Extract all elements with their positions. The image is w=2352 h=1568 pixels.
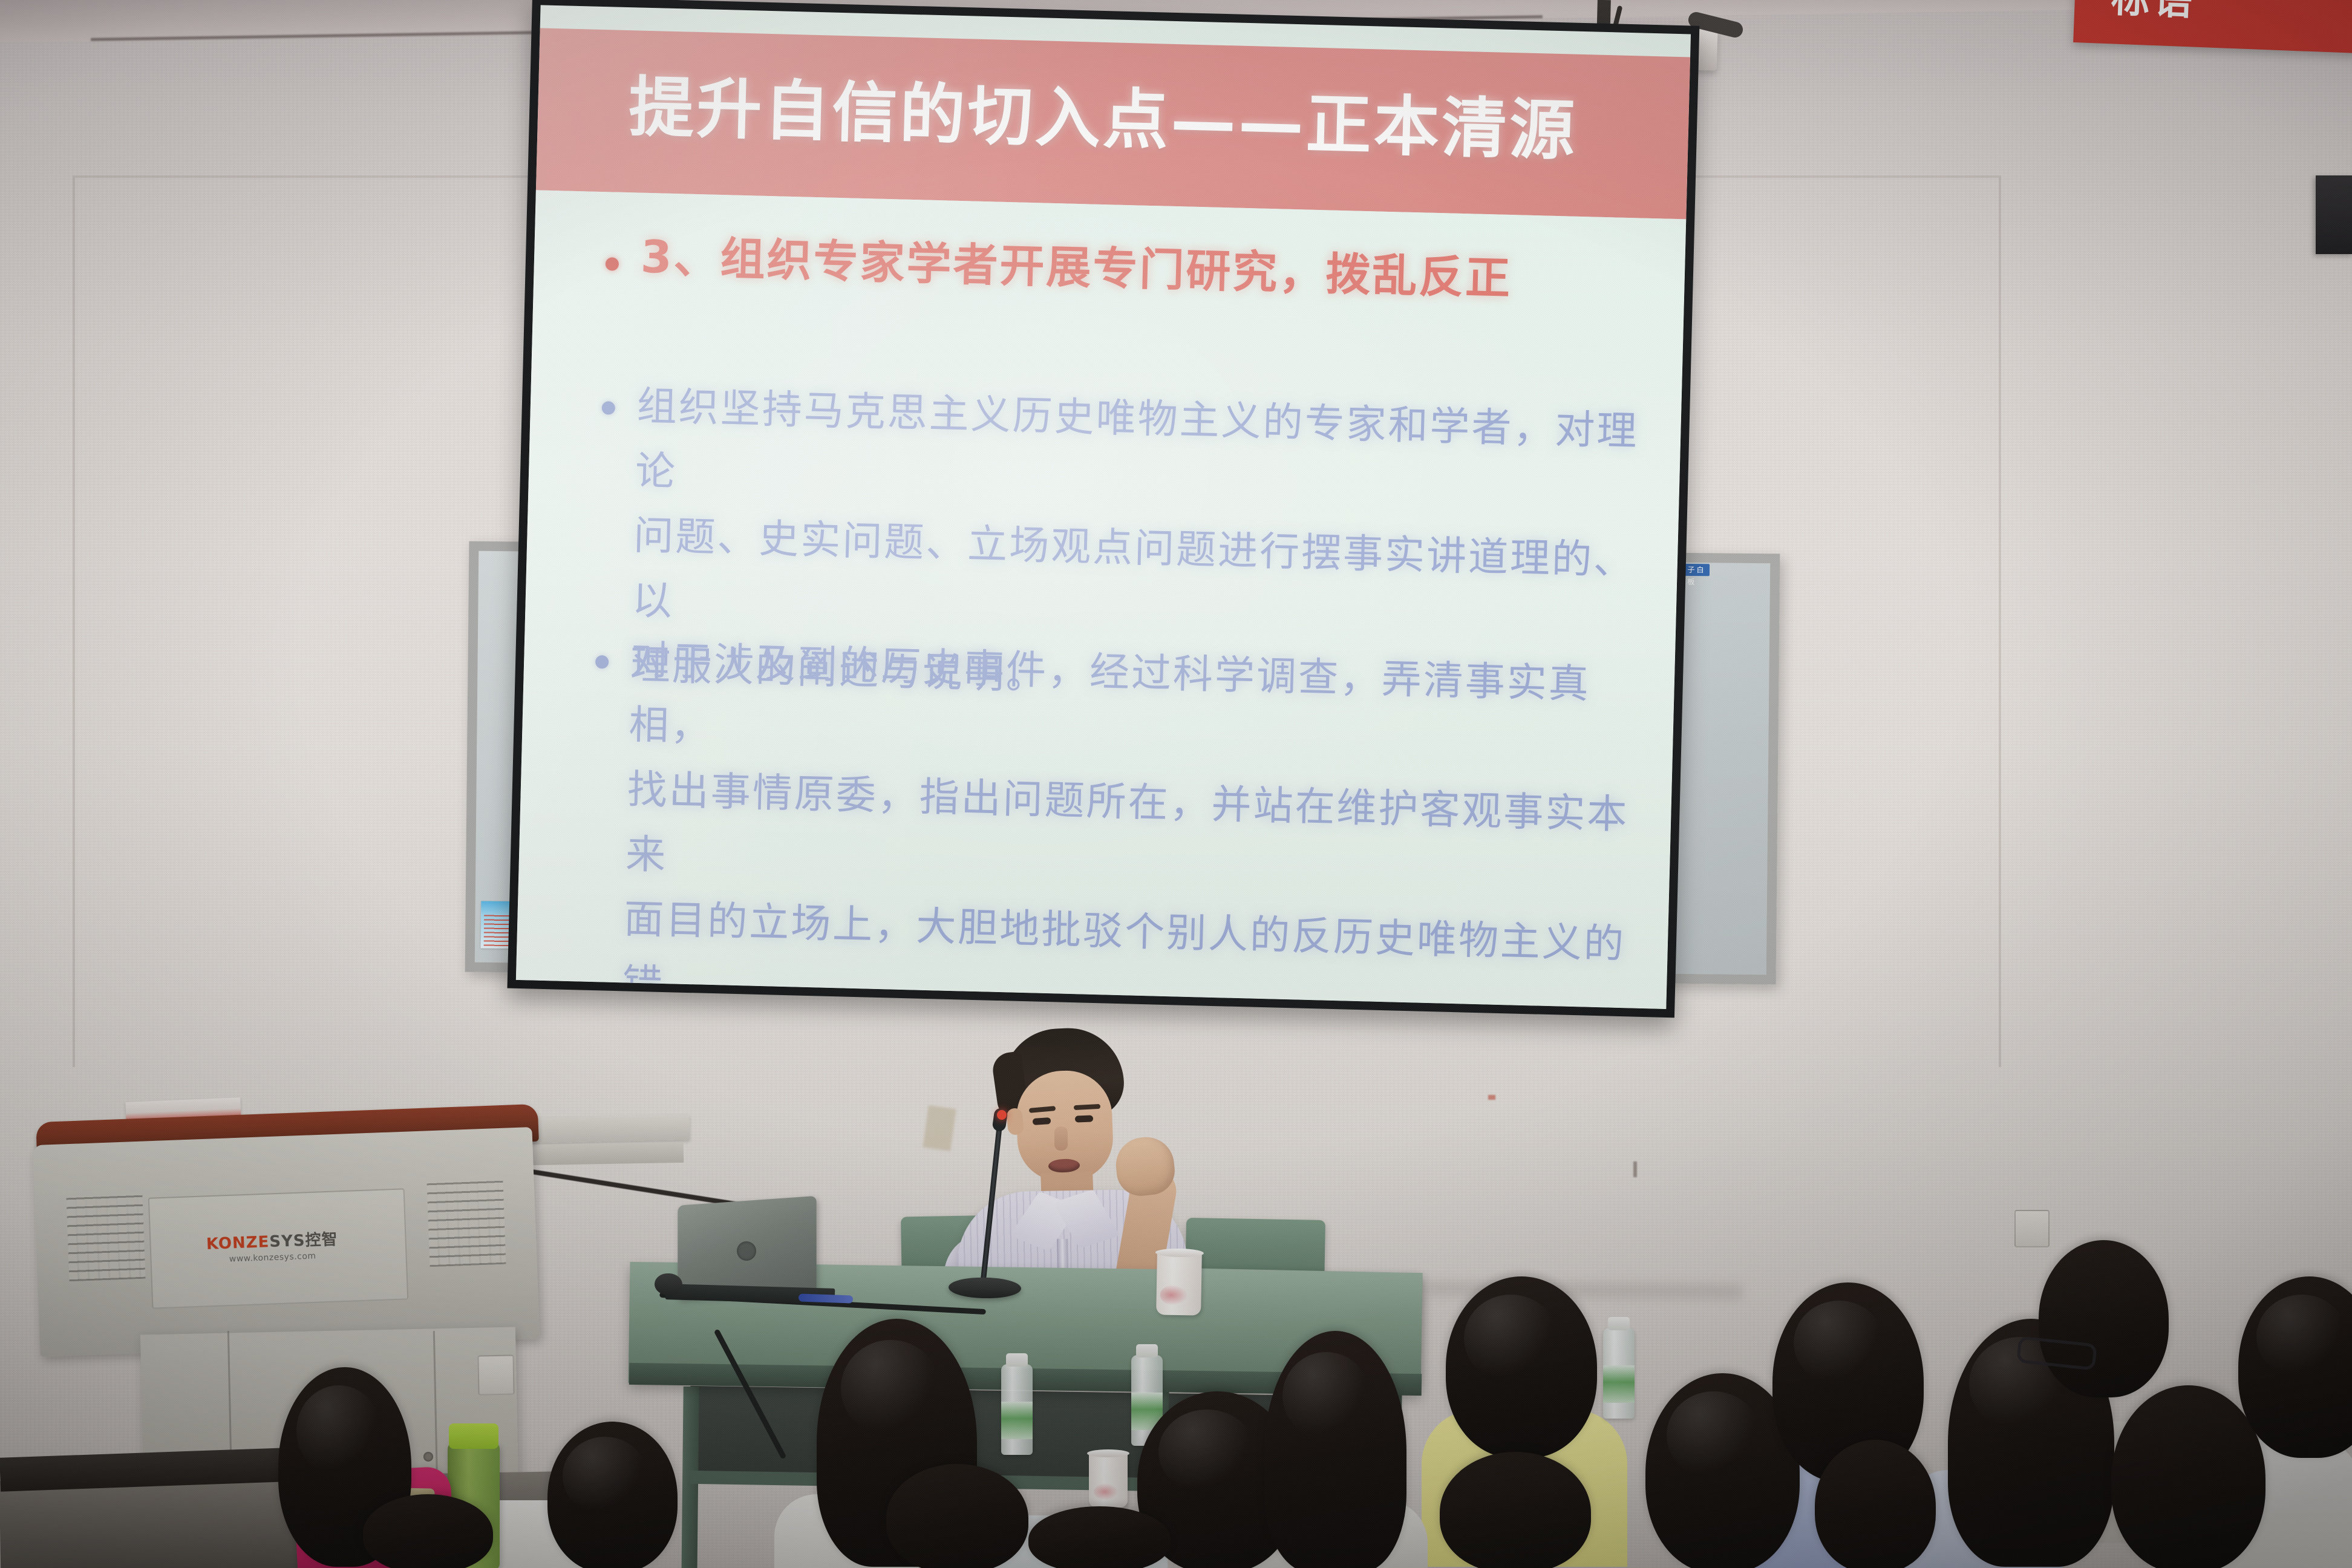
lecture-hall-photo: 标语 电子白板 提升自信的切入点——正本清源 3、组织专家学者开展专门研究，拨乱… xyxy=(0,0,2352,1568)
photo-vignette xyxy=(0,0,2352,1568)
